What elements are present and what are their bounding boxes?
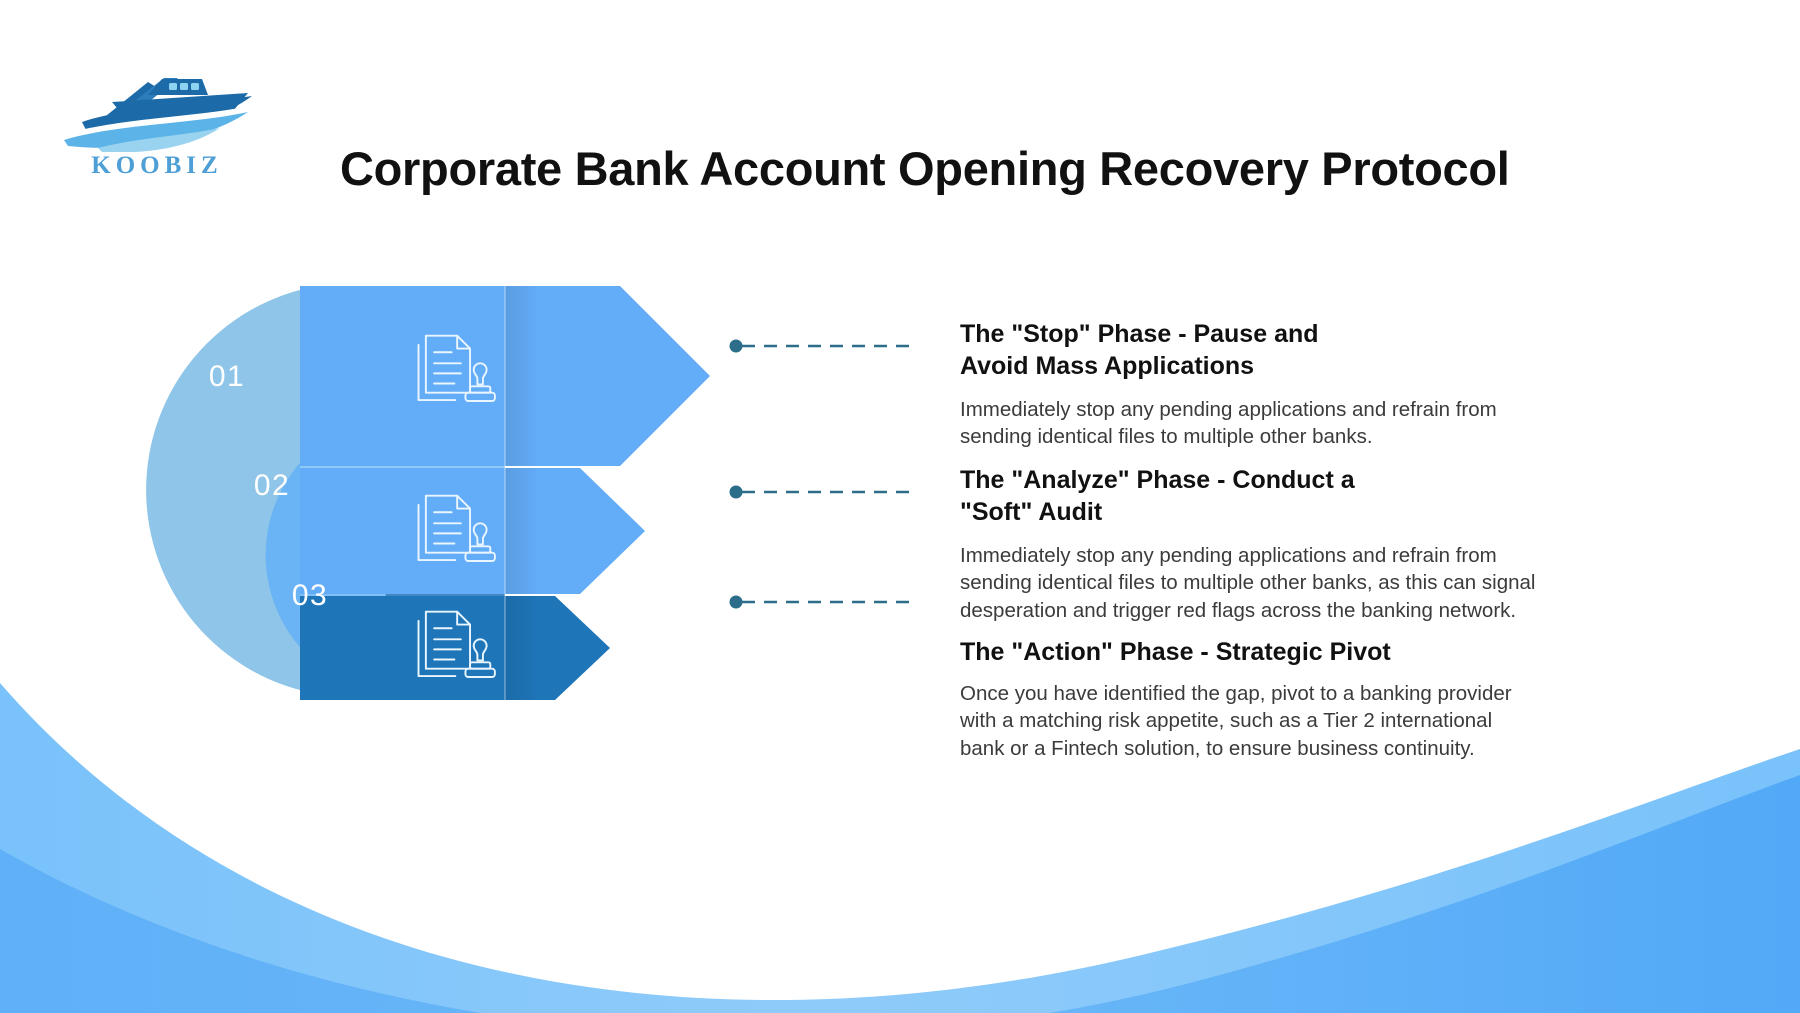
step-title-1: The "Stop" Phase - Pause and Avoid Mass … <box>960 318 1720 382</box>
process-diagram: 01 02 03 <box>100 280 840 700</box>
step-number-03: 03 <box>292 579 328 612</box>
step-block-1: The "Stop" Phase - Pause and Avoid Mass … <box>960 318 1720 451</box>
step-title-2: The "Analyze" Phase - Conduct a "Soft" A… <box>960 464 1720 528</box>
step-number-02: 02 <box>254 469 290 502</box>
wave-lower <box>0 775 1800 1013</box>
step-block-2: The "Analyze" Phase - Conduct a "Soft" A… <box>960 464 1720 624</box>
brand-wordmark: KOOBIZ <box>52 152 262 180</box>
slide-canvas: KOOBIZ Corporate Bank Account Opening Re… <box>0 0 1800 1013</box>
diagram-overlap-shadow <box>505 286 539 700</box>
ship-logo-icon <box>52 62 262 152</box>
brand-logo: KOOBIZ <box>52 62 262 187</box>
step-number-01: 01 <box>209 360 245 393</box>
step-title-3: The "Action" Phase - Strategic Pivot <box>960 636 1720 668</box>
page-title: Corporate Bank Account Opening Recovery … <box>340 142 1680 196</box>
step-body-2: Immediately stop any pending application… <box>960 542 1720 624</box>
step-block-3: The "Action" Phase - Strategic Pivot Onc… <box>960 636 1720 762</box>
step-body-3: Once you have identified the gap, pivot … <box>960 680 1720 762</box>
step-body-1: Immediately stop any pending application… <box>960 396 1720 451</box>
arrow-band-2 <box>300 468 645 594</box>
